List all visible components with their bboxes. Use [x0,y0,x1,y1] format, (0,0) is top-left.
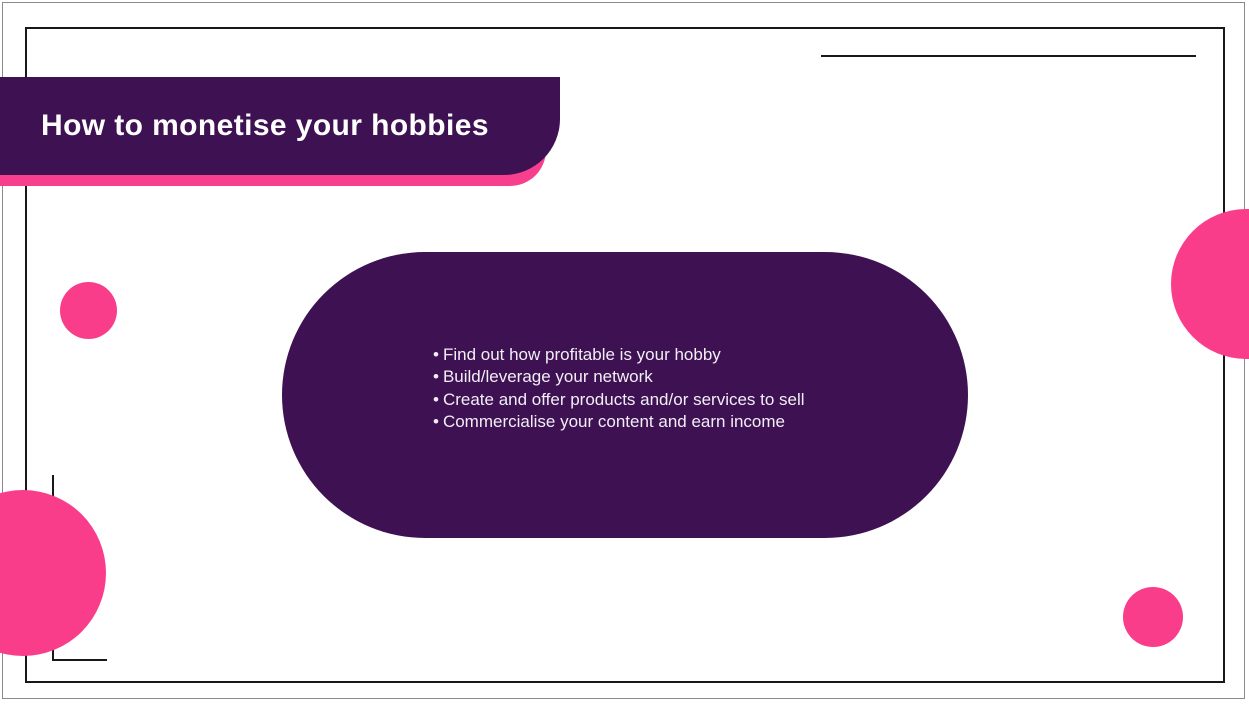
decorative-circle-large-left [0,490,106,656]
slide-canvas: How to monetise your hobbies •Find out h… [0,0,1249,713]
decorative-circle-small-left [60,282,117,339]
list-item-label: Build/leverage your network [443,367,653,386]
list-item: •Find out how profitable is your hobby [433,344,805,366]
list-item: •Commercialise your content and earn inc… [433,411,805,433]
decorative-circle-large-right [1171,209,1249,359]
title-banner: How to monetise your hobbies [0,77,560,175]
bullet-marker-icon: • [433,390,439,409]
decorative-circle-small-right [1123,587,1183,647]
bullet-marker-icon: • [433,412,439,431]
bullet-marker-icon: • [433,367,439,386]
list-item: •Build/leverage your network [433,366,805,388]
content-pill: •Find out how profitable is your hobby •… [282,252,968,538]
bullet-list: •Find out how profitable is your hobby •… [433,344,805,433]
top-right-divider-rule [821,55,1196,57]
bullet-marker-icon: • [433,345,439,364]
list-item-label: Commercialise your content and earn inco… [443,412,785,431]
list-item: •Create and offer products and/or servic… [433,389,805,411]
corner-bracket-horizontal [52,659,107,661]
list-item-label: Find out how profitable is your hobby [443,345,721,364]
slide-title: How to monetise your hobbies [41,109,489,143]
list-item-label: Create and offer products and/or service… [443,390,805,409]
